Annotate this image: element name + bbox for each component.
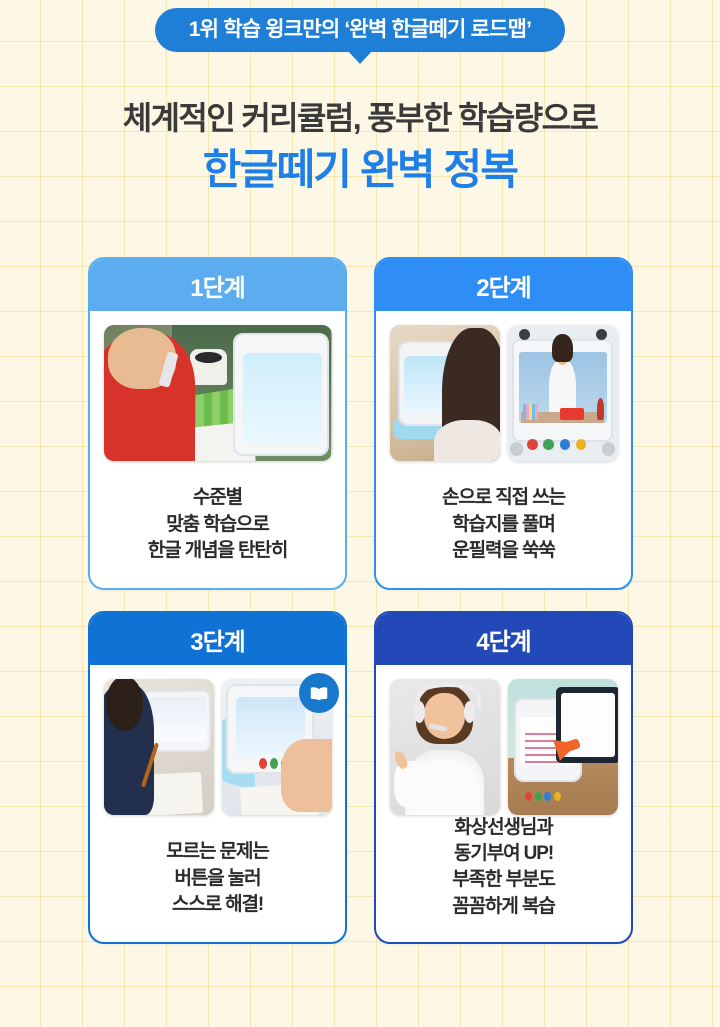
promo-page: 1위 학습 윙크만의 ‘완벽 한글떼기 로드맵’ 체계적인 커리큘럼, 풍부한 …: [0, 0, 720, 1027]
open-book-icon: [299, 673, 339, 713]
step-card-4-photos: [386, 679, 621, 815]
step-card-4-caption: 화상선생님과 동기부여 UP! 부족한 부분도 꼼꼼하게 복습: [452, 815, 554, 932]
step-photo-2a: [390, 325, 500, 461]
roadmap-badge: 1위 학습 윙크만의 ‘완벽 한글떼기 로드맵’: [155, 8, 565, 52]
step-card-1[interactable]: 1단계 수준별 맞춤 학습으로 한글 개념을 탄탄히: [88, 257, 347, 590]
step-photo-3a: [104, 679, 214, 815]
step-card-2-label: 2단계: [476, 268, 531, 303]
speech-bubble-tail-icon: [347, 50, 373, 64]
step-card-1-body: 수준별 맞춤 학습으로 한글 개념을 탄탄히: [90, 311, 345, 588]
step-card-3-header: 3단계: [90, 613, 345, 665]
step-card-4-header: 4단계: [376, 613, 631, 665]
headline-line-1: 체계적인 커리큘럼, 풍부한 학습량으로: [0, 98, 720, 138]
headline-line-2: 한글떼기 완벽 정복: [0, 144, 720, 195]
step-card-2-caption: 손으로 직접 쓰는 학습지를 풀며 운필력을 쑥쑥: [442, 485, 565, 576]
step-card-2-body: 손으로 직접 쓰는 학습지를 풀며 운필력을 쑥쑥: [376, 311, 631, 588]
step-photo-2b: [508, 325, 618, 461]
step-card-4-body: 화상선생님과 동기부여 UP! 부족한 부분도 꼼꼼하게 복습: [376, 665, 631, 944]
top-badge-wrapper: 1위 학습 윙크만의 ‘완벽 한글떼기 로드맵’: [0, 8, 720, 52]
step-photo-4b: [508, 679, 618, 815]
step-card-4[interactable]: 4단계: [374, 611, 633, 944]
step-card-1-label: 1단계: [190, 268, 245, 303]
step-card-1-caption: 수준별 맞춤 학습으로 한글 개념을 탄탄히: [148, 485, 287, 576]
step-card-3-label: 3단계: [190, 622, 245, 657]
step-card-2[interactable]: 2단계 손으로 직접 쓰는 학습지: [374, 257, 633, 590]
step-card-3[interactable]: 3단계: [88, 611, 347, 944]
step-card-3-photos: [100, 679, 335, 815]
step-card-grid: 1단계 수준별 맞춤 학습으로 한글 개념을 탄탄히 2단: [88, 257, 633, 944]
step-card-2-photos: [386, 325, 621, 461]
roadmap-badge-text: 1위 학습 윙크만의 ‘완벽 한글떼기 로드맵’: [189, 18, 531, 41]
step-card-3-body: 모르는 문제는 버튼을 눌러 스스로 해결!: [90, 665, 345, 942]
step-card-4-label: 4단계: [476, 622, 531, 657]
step-card-1-header: 1단계: [90, 259, 345, 311]
page-title: 체계적인 커리큘럼, 풍부한 학습량으로 한글떼기 완벽 정복: [0, 98, 720, 196]
step-photo-4a: [390, 679, 500, 815]
step-card-1-photos: [100, 325, 335, 461]
step-card-3-caption: 모르는 문제는 버튼을 눌러 스스로 해결!: [166, 839, 268, 930]
step-card-2-header: 2단계: [376, 259, 631, 311]
step-photo-1a: [104, 325, 332, 461]
